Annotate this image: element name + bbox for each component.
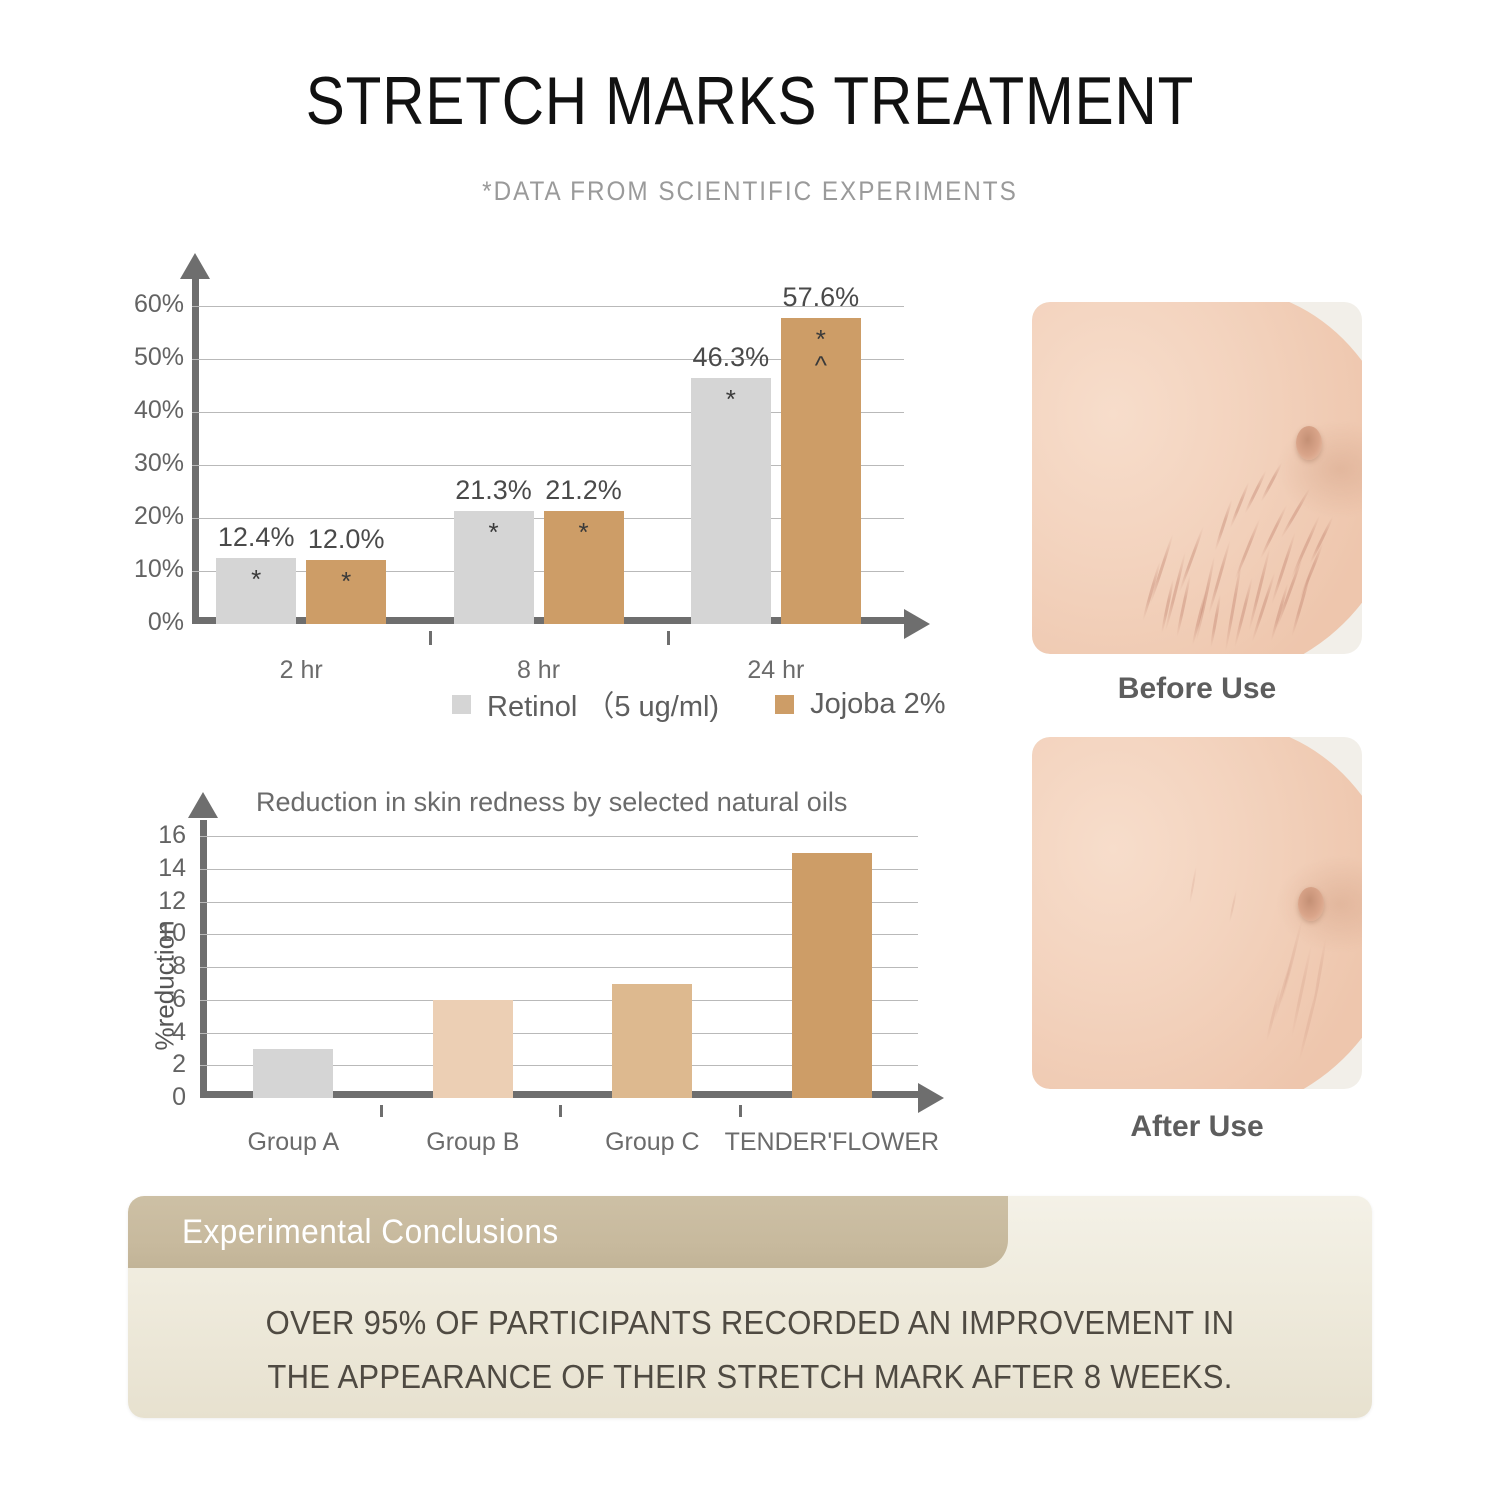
chart1-bar-value-label: 21.2% (526, 475, 642, 506)
chart1-significance-mark: * (306, 568, 386, 594)
chart2-y-tick: 0 (128, 1083, 186, 1112)
photo-after-use (1032, 737, 1362, 1089)
chart2-y-axis-arrow (188, 792, 218, 818)
chart2-x-tick-mark (559, 1105, 562, 1117)
belly-shape-before (1032, 302, 1362, 654)
chart2-y-tick: 2 (128, 1050, 186, 1079)
experimental-conclusions-panel: Experimental Conclusions OVER 95% OF PAR… (128, 1196, 1372, 1418)
chart1-legend: Retinol （5 ug/ml) Jojoba 2% (452, 683, 946, 725)
photo-caption-before: Before Use (1032, 672, 1362, 706)
chart2-y-tick: 12 (128, 887, 186, 916)
chart2-x-tick-mark (739, 1105, 742, 1117)
photo-after-inner (1032, 737, 1362, 1089)
chart1-significance-mark: * (691, 386, 771, 412)
legend-item-jojoba: Jojoba 2% (775, 688, 945, 721)
navel-before (1296, 426, 1322, 460)
chart1-y-tick: 40% (122, 396, 184, 425)
chart2-title: Reduction in skin redness by selected na… (256, 787, 847, 818)
chart1-significance-mark: *^ (781, 326, 861, 378)
chart1-bar-value-label: 12.0% (288, 524, 404, 555)
chart1-y-tick: 0% (122, 608, 184, 637)
photo-before-inner (1032, 302, 1362, 654)
legend-swatch-retinol (452, 695, 471, 714)
conclusions-header-label: Experimental Conclusions (128, 1213, 559, 1252)
chart1-x-tick-mark (667, 631, 670, 645)
chart2-y-tick: 16 (128, 821, 186, 850)
chart1-y-tick: 60% (122, 290, 184, 319)
chart1-bar-value-label: 57.6% (763, 282, 879, 313)
chart2-y-tick: 6 (128, 985, 186, 1014)
chart2-bar (612, 984, 692, 1098)
chart2-x-tick-label: TENDER'FLOWER (712, 1128, 952, 1157)
chart2-bar (433, 1000, 513, 1098)
photo-caption-after: After Use (1032, 1110, 1362, 1144)
legend-label-jojoba: Jojoba 2% (810, 688, 945, 721)
infographic-page: STRETCH MARKS TREATMENT *DATA FROM SCIEN… (0, 0, 1500, 1500)
photo-before-use (1032, 302, 1362, 654)
chart1-y-tick: 20% (122, 502, 184, 531)
chart1-y-axis-arrow (180, 253, 210, 279)
chart2-y-tick: 10 (128, 919, 186, 948)
navel-after (1298, 887, 1324, 921)
chart2-y-tick: 4 (128, 1018, 186, 1047)
chart2-y-tick: 8 (128, 952, 186, 981)
conclusions-line-1: OVER 95% OF PARTICIPANTS RECORDED AN IMP… (165, 1304, 1334, 1342)
chart1-y-tick: 30% (122, 449, 184, 478)
legend-swatch-jojoba (775, 695, 794, 714)
legend-item-retinol: Retinol （5 ug/ml) (452, 683, 719, 725)
page-title: STRETCH MARKS TREATMENT (105, 62, 1395, 140)
chart1-bar-value-label: 46.3% (673, 342, 789, 373)
page-subtitle: *DATA FROM SCIENTIFIC EXPERIMENTS (75, 176, 1425, 207)
chart1-x-tick-label: 24 hr (686, 656, 866, 685)
chart2-bar (253, 1049, 333, 1098)
chart2-x-axis-arrow (918, 1083, 944, 1113)
chart1-x-tick-label: 2 hr (211, 656, 391, 685)
bar-chart-skin-redness: %reduction Reduction in skin redness by … (128, 780, 958, 1170)
chart1-x-tick-label: 8 hr (449, 656, 629, 685)
chart2-x-tick-mark (380, 1105, 383, 1117)
chart2-bar (792, 853, 872, 1098)
chart1-bar (691, 378, 771, 624)
conclusions-header-tab: Experimental Conclusions (128, 1196, 1008, 1268)
chart1-significance-mark: * (216, 566, 296, 592)
chart1-significance-mark: * (454, 519, 534, 545)
chart1-y-tick: 50% (122, 343, 184, 372)
chart1-x-tick-mark (429, 631, 432, 645)
chart2-gridline (200, 836, 918, 837)
chart1-significance-mark: * (544, 519, 624, 545)
chart2-y-tick: 14 (128, 854, 186, 883)
chart1-x-axis-arrow (904, 609, 930, 639)
chart1-y-tick: 10% (122, 555, 184, 584)
conclusions-line-2: THE APPEARANCE OF THEIR STRETCH MARK AFT… (165, 1358, 1334, 1396)
bar-chart-absorption: 0%10%20%30%40%50%60% 12.4%*12.0%*21.3%*2… (140, 265, 960, 665)
legend-label-retinol: Retinol （5 ug/ml) (487, 683, 719, 725)
